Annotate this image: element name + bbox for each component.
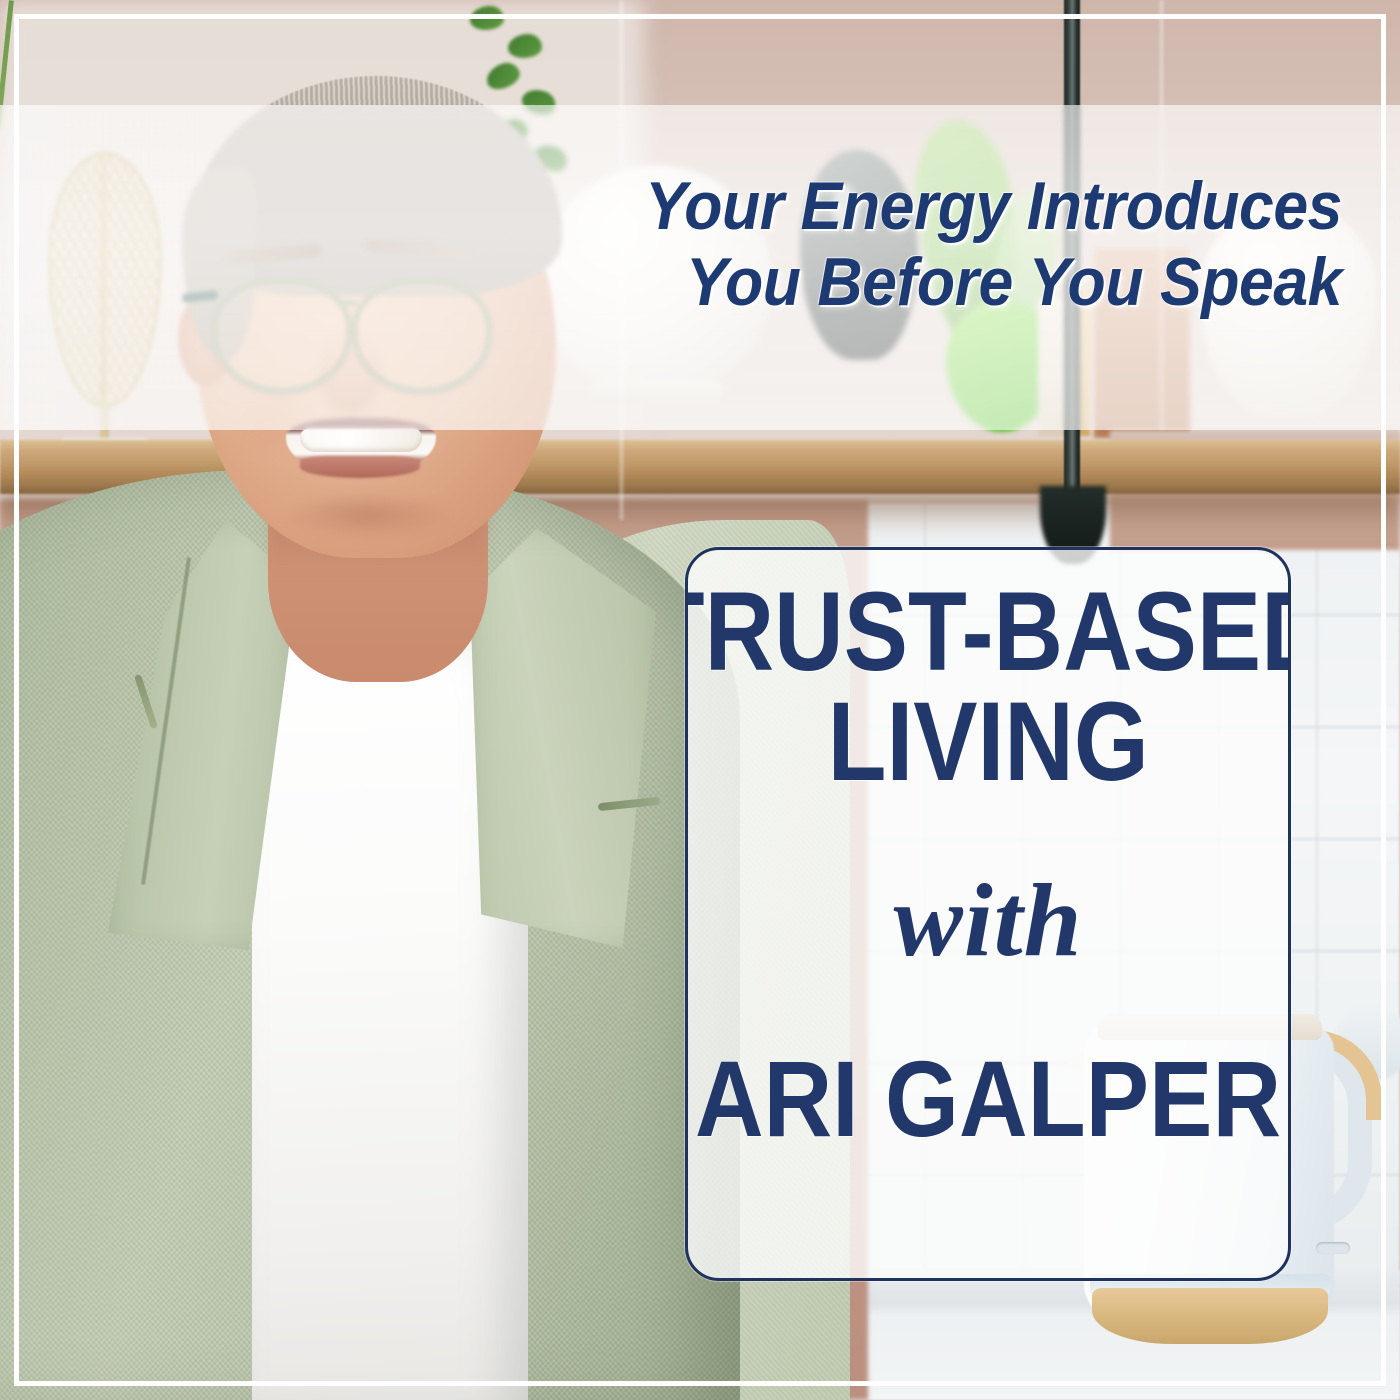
show-title-line-1: TRUST-BASED xyxy=(685,578,1291,686)
show-title-card: TRUST-BASED LIVING with ARI GALPER xyxy=(685,547,1291,1281)
episode-title-line-2: You Before You Speak xyxy=(615,244,1342,320)
host-name: ARI GALPER xyxy=(695,1045,1281,1153)
chin-shadow xyxy=(282,492,452,538)
kettle-switch xyxy=(1316,1242,1350,1254)
show-title-card-content: TRUST-BASED LIVING with ARI GALPER xyxy=(688,550,1288,1278)
show-title-line-2: LIVING xyxy=(685,688,1291,796)
show-title: TRUST-BASED LIVING xyxy=(685,578,1291,795)
podcast-cover-art: Your Energy Introduces You Before You Sp… xyxy=(0,0,1400,1400)
episode-title-line-1: Your Energy Introduces xyxy=(645,168,1342,244)
lower-lip xyxy=(300,456,420,478)
kettle-wooden-base xyxy=(1092,1288,1328,1344)
title-haze-falloff xyxy=(0,105,200,430)
teeth xyxy=(300,428,422,452)
episode-title: Your Energy Introduces You Before You Sp… xyxy=(615,168,1342,320)
connector-word: with xyxy=(894,869,1083,973)
